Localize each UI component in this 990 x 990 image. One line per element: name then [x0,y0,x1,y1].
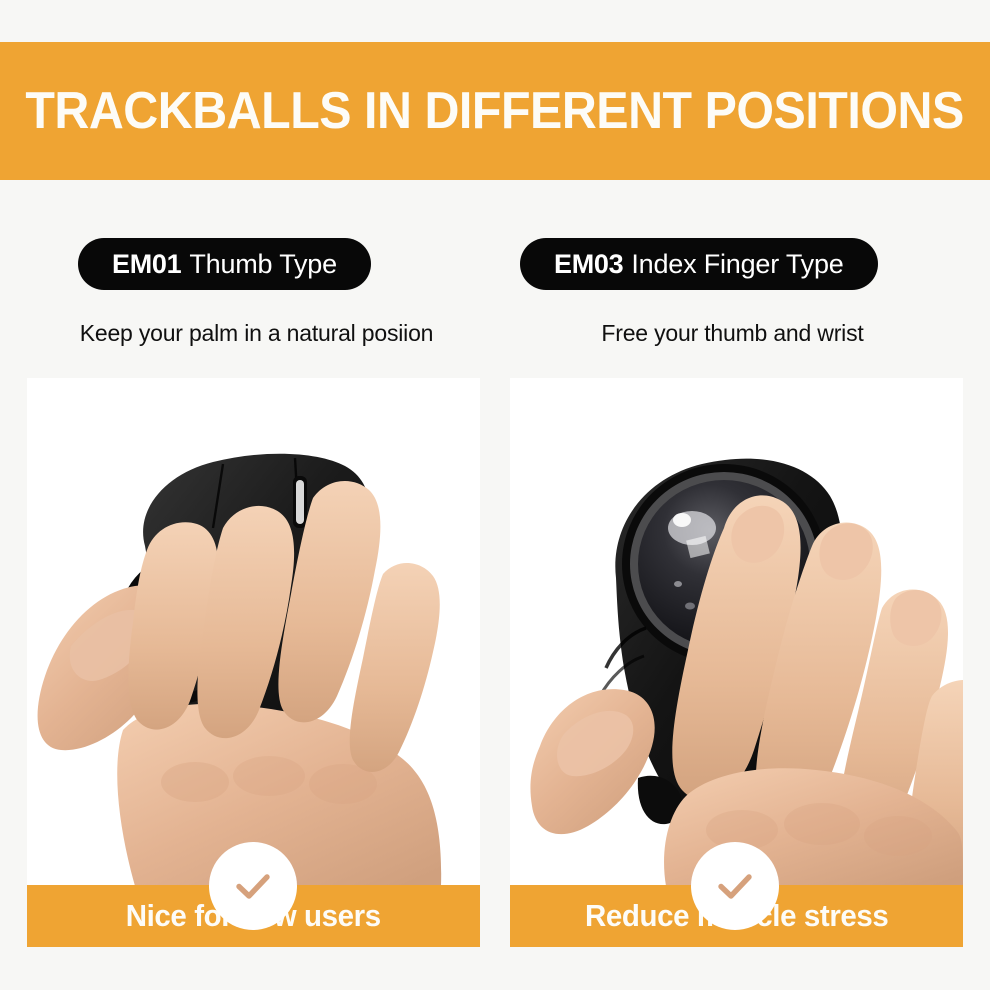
badge-name: Index Finger Type [631,249,843,280]
thumb-trackball-illustration [27,378,480,886]
product-subtitle-em03: Free your thumb and wrist [495,320,990,347]
index-finger-trackball-illustration [510,378,963,886]
badge-code: EM03 [554,249,623,280]
product-column-em03: EM03 Index Finger Type Free your thumb a… [495,180,990,990]
check-badge-em01 [209,842,297,930]
infographic-page: TRACKBALLS IN DIFFERENT POSITIONS EM01 T… [0,0,990,990]
product-photo-em01 [27,378,480,886]
badge-name: Thumb Type [189,249,337,280]
product-photo-em03 [510,378,963,886]
check-icon [228,861,278,911]
product-column-em01: EM01 Thumb Type Keep your palm in a natu… [0,180,495,990]
product-badge-em03: EM03 Index Finger Type [520,238,878,290]
photo-stage [27,378,480,886]
badge-code: EM01 [112,249,181,280]
comparison-columns: EM01 Thumb Type Keep your palm in a natu… [0,180,990,990]
product-badge-em01: EM01 Thumb Type [78,238,371,290]
photo-stage [510,378,963,886]
product-subtitle-em01: Keep your palm in a natural posiion [0,320,495,347]
check-badge-em03 [691,842,779,930]
page-title: TRACKBALLS IN DIFFERENT POSITIONS [26,85,964,137]
header-banner: TRACKBALLS IN DIFFERENT POSITIONS [0,42,990,180]
check-icon [710,861,760,911]
